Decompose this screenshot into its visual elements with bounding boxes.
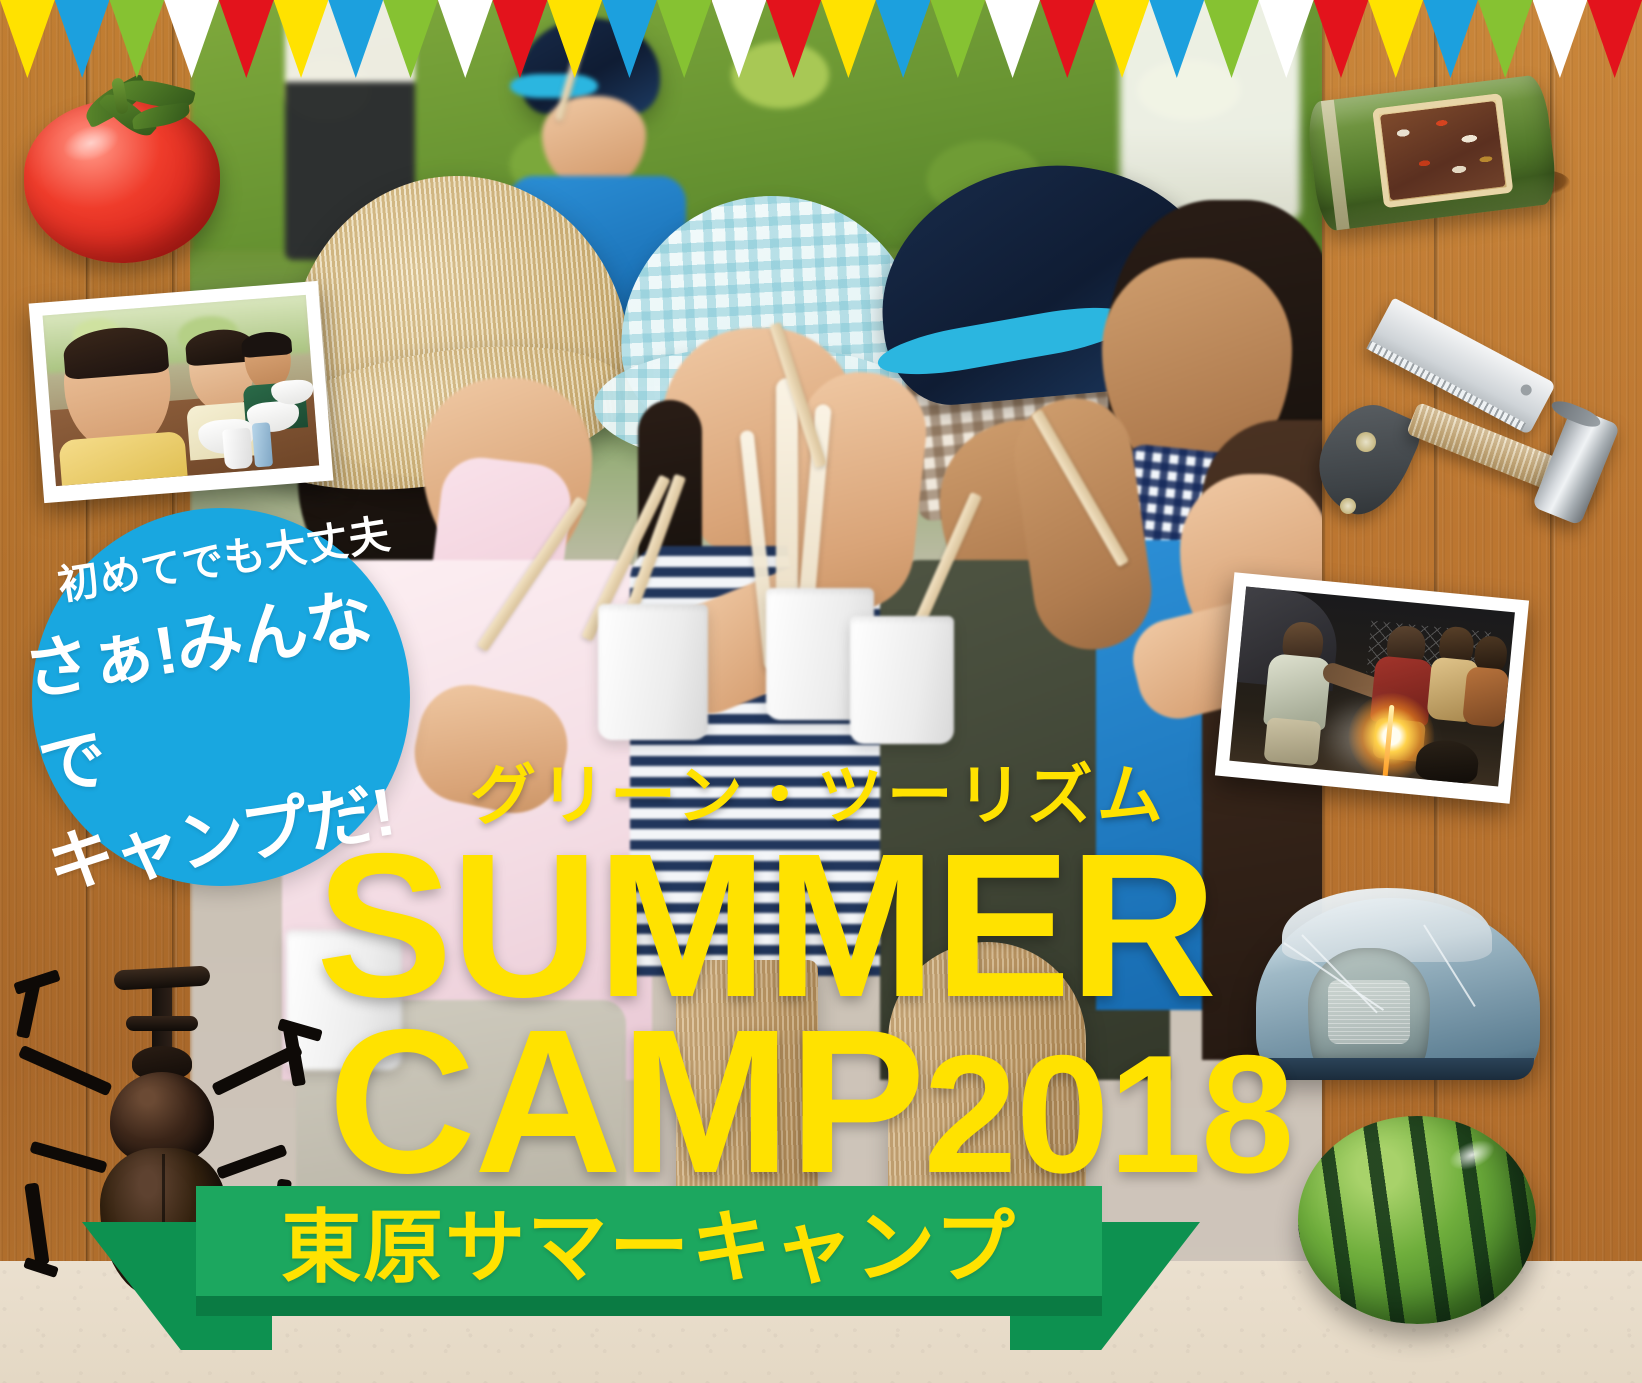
summer-camp-poster: 初めてでも大丈夫 さぁ!みんなで キャンプだ! グリーン・ツーリズム SUMME… xyxy=(0,0,1642,1383)
bunting-flag xyxy=(876,0,931,78)
event-name-ribbon: 東原サマーキャンプ xyxy=(0,1158,1300,1368)
bunting-flag xyxy=(766,0,821,78)
bunting-flag xyxy=(1149,0,1204,78)
bunting-flag xyxy=(1204,0,1259,78)
bunting-flag xyxy=(1533,0,1588,78)
bunting-flag xyxy=(1040,0,1095,78)
bunting-flag xyxy=(712,0,767,78)
poster-title-block: グリーン・ツーリズム SUMMER CAMP 2018 xyxy=(0,742,1300,1191)
ribbon-label: 東原サマーキャンプ xyxy=(281,1183,1017,1299)
bunting-flag xyxy=(0,0,55,78)
bunting-flag xyxy=(274,0,329,78)
polaroid-photo-kids-eating xyxy=(29,281,334,503)
bunting-flag xyxy=(930,0,985,78)
bunting-flag xyxy=(1478,0,1533,78)
wooden-mallet-image xyxy=(1398,378,1628,598)
watermelon-image xyxy=(1298,1116,1536,1324)
bunting-flags xyxy=(0,0,1642,78)
paper-cup xyxy=(598,604,708,740)
bunting-flag xyxy=(164,0,219,78)
bunting-flag xyxy=(383,0,438,78)
bunting-flag xyxy=(985,0,1040,78)
bunting-flag xyxy=(1314,0,1369,78)
bunting-flag xyxy=(1423,0,1478,78)
bunting-flag xyxy=(821,0,876,78)
bunting-flag xyxy=(219,0,274,78)
bunting-flag xyxy=(493,0,548,78)
bunting-flag xyxy=(602,0,657,78)
bunting-flag xyxy=(1368,0,1423,78)
bunting-flag xyxy=(55,0,110,78)
ribbon-panel: 東原サマーキャンプ xyxy=(196,1186,1102,1296)
bunting-flag xyxy=(1259,0,1314,78)
tomato-image xyxy=(24,78,220,263)
paper-cup xyxy=(850,616,954,744)
bunting-flag xyxy=(547,0,602,78)
bunting-flag xyxy=(328,0,383,78)
bunting-flag xyxy=(1095,0,1150,78)
bunting-flag xyxy=(1587,0,1642,78)
bunting-flag xyxy=(109,0,164,78)
bunting-flag xyxy=(657,0,712,78)
bunting-flag xyxy=(438,0,493,78)
